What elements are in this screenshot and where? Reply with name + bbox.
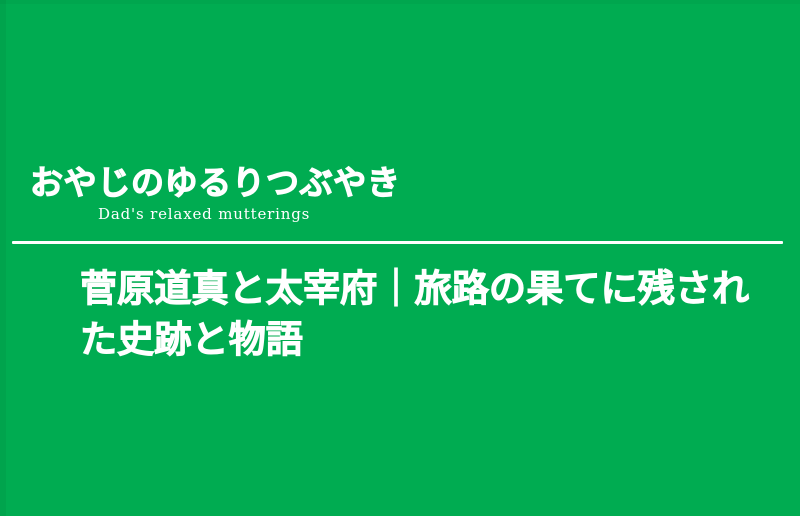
blog-ogp-card: おやじのゆるりつぶやき Dad's relaxed mutterings 菅原道… [0, 0, 800, 516]
horizontal-divider [12, 241, 783, 244]
site-logo-text: おやじのゆるりつぶやき [30, 163, 770, 203]
site-branding: おやじのゆるりつぶやき Dad's relaxed mutterings [30, 163, 770, 224]
article-title: 菅原道真と太宰府｜旅路の果てに残された史跡と物語 [80, 263, 780, 365]
site-tagline: Dad's relaxed mutterings [30, 204, 770, 224]
